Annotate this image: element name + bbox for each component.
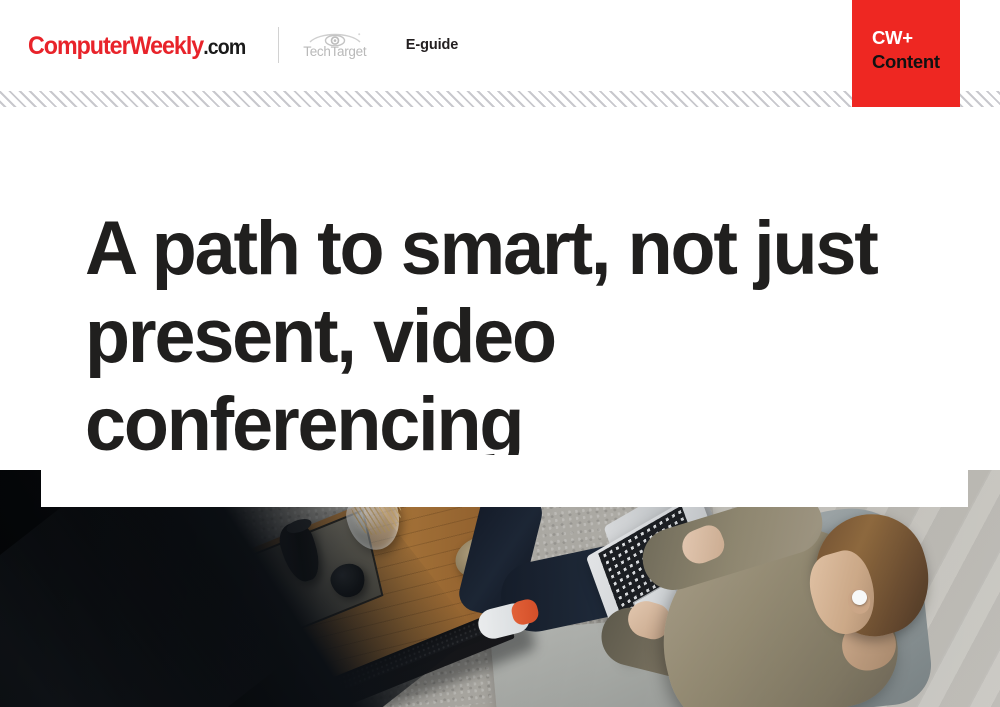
page-header: ComputerWeekly.com TechTarget E-guide CW… (0, 0, 1000, 91)
hatch-divider-band (0, 91, 1000, 107)
eguide-cover-page: ComputerWeekly.com TechTarget E-guide CW… (0, 0, 1000, 707)
cw-plus-badge-line1: CW+ (872, 26, 960, 50)
hatch-band-badge-mask (852, 91, 960, 107)
techtarget-logo-label: TechTarget (303, 45, 366, 59)
computerweekly-logo[interactable]: ComputerWeekly.com (28, 34, 245, 59)
title-area: A path to smart, not just present, video… (0, 107, 1000, 470)
cw-plus-badge-line2: Content (872, 50, 960, 74)
brand-row: ComputerWeekly.com TechTarget E-guide (28, 22, 458, 68)
page-title: A path to smart, not just present, video… (85, 205, 910, 469)
cw-plus-content-badge[interactable]: CW+ Content (852, 0, 960, 102)
content-type-label: E-guide (406, 37, 458, 53)
techtarget-logo[interactable]: TechTarget (296, 31, 374, 59)
white-overlay-band (41, 470, 968, 507)
computerweekly-logo-primary: ComputerWeekly (28, 32, 203, 60)
brand-divider (278, 27, 279, 63)
computerweekly-logo-suffix: .com (203, 36, 245, 59)
white-gap-above-photo (0, 455, 1000, 470)
